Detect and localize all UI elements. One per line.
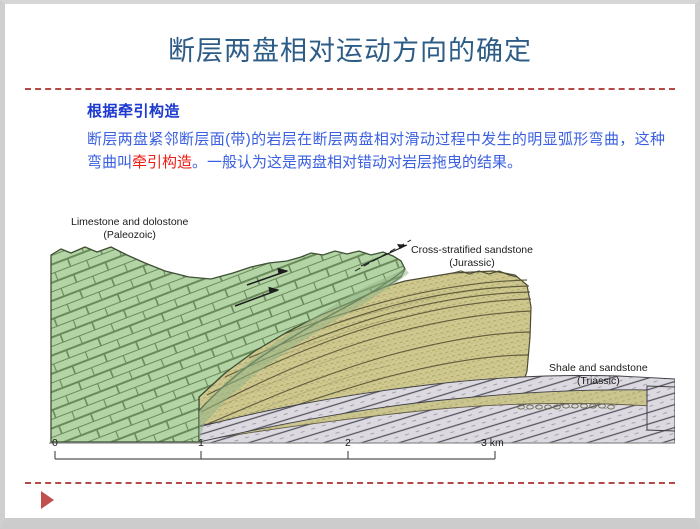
body-paragraph: 断层两盘紧邻断层面(带)的岩层在断层两盘相对滑动过程中发生的明显弧形弯曲，这种弯… xyxy=(87,128,665,174)
paragraph-segment-2: 。一般认为这是两盘相对错动对岩层拖曳的结果。 xyxy=(192,154,522,171)
scale-tick-2: 2 xyxy=(345,437,351,449)
page-title: 断层两盘相对运动方向的确定 xyxy=(5,38,695,65)
scale-tick-0: 0 xyxy=(52,437,58,449)
scale-bar xyxy=(55,451,495,459)
shale-block-right xyxy=(647,386,675,431)
label-jurassic-line2: (Jurassic) xyxy=(411,257,533,270)
label-triassic-shale: Shale and sandstone (Triassic) xyxy=(549,362,648,388)
label-limestone: Limestone and dolostone (Paleozoic) xyxy=(71,216,188,242)
label-jurassic-line1: Cross-stratified sandstone xyxy=(411,244,533,257)
label-limestone-line1: Limestone and dolostone xyxy=(71,216,188,229)
label-triassic-line2: (Triassic) xyxy=(549,375,648,388)
paragraph-highlight-term: 牵引构造 xyxy=(132,154,192,171)
label-triassic-line1: Shale and sandstone xyxy=(549,362,648,375)
title-divider-dashed xyxy=(25,88,675,90)
label-jurassic-sandstone: Cross-stratified sandstone (Jurassic) xyxy=(411,244,533,270)
geology-block-diagram-svg xyxy=(49,211,675,464)
scale-tick-1: 1 xyxy=(198,437,204,449)
slide-frame: 断层两盘相对运动方向的确定 根据牵引构造 断层两盘紧邻断层面(带)的岩层在断层两… xyxy=(0,0,700,529)
footer-divider-dashed xyxy=(25,482,675,484)
slide-canvas: 断层两盘相对运动方向的确定 根据牵引构造 断层两盘紧邻断层面(带)的岩层在断层两… xyxy=(5,4,695,518)
label-limestone-line2: (Paleozoic) xyxy=(71,229,188,242)
geology-figure: Limestone and dolostone (Paleozoic) Cros… xyxy=(49,211,675,464)
play-triangle-icon[interactable] xyxy=(41,491,54,509)
scale-end-label: 3 km xyxy=(481,437,504,449)
section-subheading: 根据牵引构造 xyxy=(87,103,180,121)
